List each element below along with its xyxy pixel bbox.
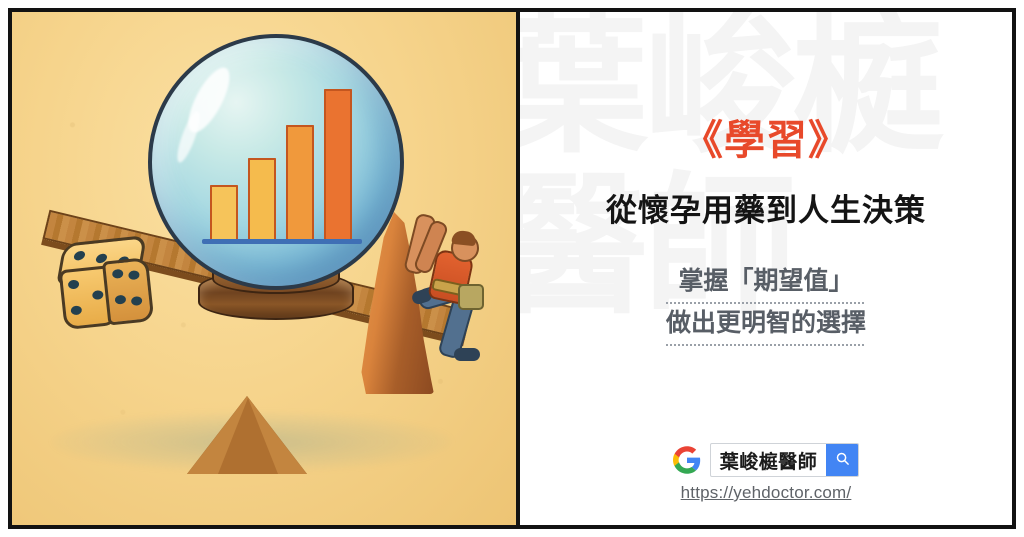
seesaw-fulcrum-shade xyxy=(218,398,278,474)
page-title: 《學習》 xyxy=(682,120,850,161)
tagline-line-1: 掌握「期望值」 xyxy=(666,262,866,304)
dice-side-face xyxy=(102,257,154,325)
climber-figure xyxy=(402,218,498,390)
dice-pip xyxy=(68,279,80,289)
climber-shoe xyxy=(454,348,480,361)
dice-pip xyxy=(70,305,82,315)
bar-chart-bar xyxy=(324,89,352,240)
dice-pip xyxy=(112,269,124,279)
dice-pip xyxy=(73,251,86,261)
bar-chart xyxy=(210,80,352,240)
bar-chart-bar xyxy=(210,185,238,240)
climber-chalk-bag xyxy=(458,284,484,310)
tagline: 掌握「期望值」 做出更明智的選擇 xyxy=(666,262,866,346)
text-panel: 葉峻榳 醫師 《學習》 從懷孕用藥到人生決策 掌握「期望值」 做出更明智的選擇 xyxy=(520,12,1012,525)
dice-pip xyxy=(115,295,127,305)
page-subtitle: 從懷孕用藥到人生決策 xyxy=(606,195,926,226)
climber-hair xyxy=(451,230,476,246)
illustration-panel xyxy=(12,12,520,525)
bar-chart-baseline xyxy=(202,239,362,244)
dice-pip xyxy=(131,296,143,306)
headline-stack: 《學習》 從懷孕用藥到人生決策 掌握「期望值」 做出更明智的選擇 xyxy=(520,12,1012,525)
dice-pip xyxy=(128,270,140,280)
poster-card: 葉峻榳 醫師 《學習》 從懷孕用藥到人生決策 掌握「期望值」 做出更明智的選擇 xyxy=(8,8,1016,529)
bar-chart-bar xyxy=(248,158,276,240)
bar-chart-bar xyxy=(286,125,314,240)
tagline-line-2: 做出更明智的選擇 xyxy=(666,304,866,346)
dice-icon xyxy=(54,236,150,329)
crystal-ball xyxy=(148,34,404,290)
dice-pip xyxy=(92,290,104,300)
